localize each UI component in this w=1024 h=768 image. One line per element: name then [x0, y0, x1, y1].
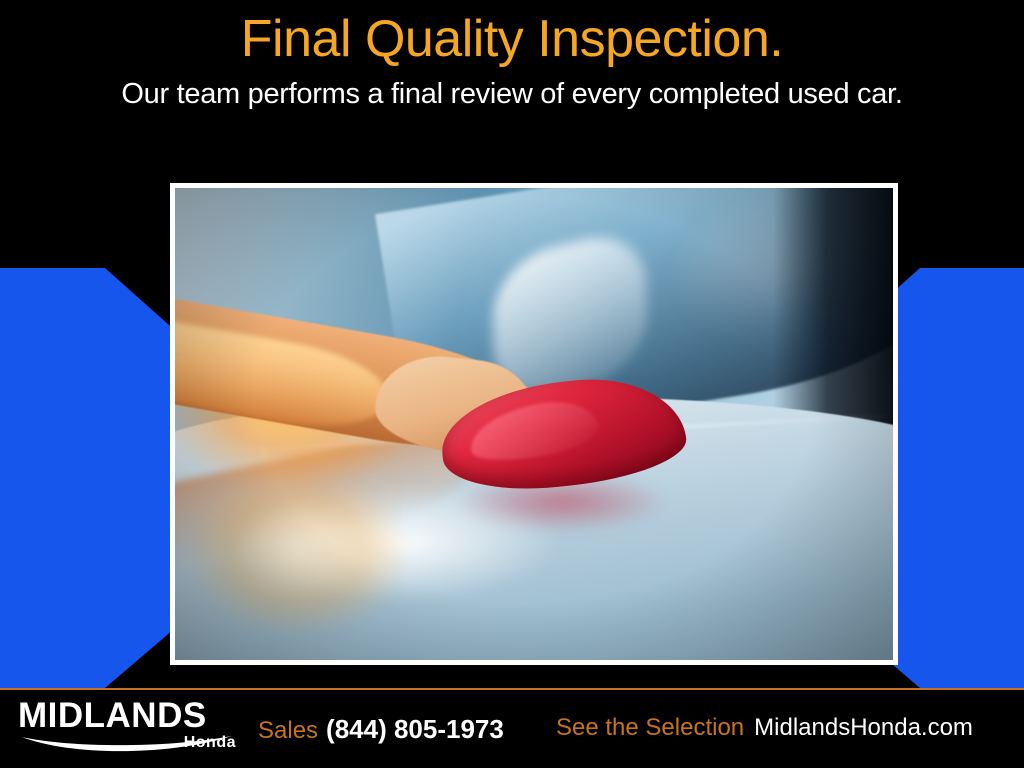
photo-vignette [175, 188, 893, 660]
logo-sub-brand-text: Honda [184, 734, 236, 752]
logo-brand-text: MIDLANDS [18, 698, 248, 734]
sales-label: Sales [258, 717, 318, 745]
advertisement-banner: Final Quality Inspection. Our team perfo… [0, 0, 1024, 768]
page-title: Final Quality Inspection. [0, 8, 1024, 70]
footer-bar: MIDLANDS Honda Sales (844) 805-1973 See … [0, 690, 1024, 768]
page-subtitle: Our team performs a final review of ever… [0, 74, 1024, 114]
sales-phone-group[interactable]: Sales (844) 805-1973 [258, 714, 504, 745]
sales-phone-number[interactable]: (844) 805-1973 [326, 714, 504, 745]
dealer-logo[interactable]: MIDLANDS Honda [18, 698, 248, 760]
photo-frame [170, 183, 898, 665]
hero-photo [175, 188, 893, 660]
see-the-selection-label: See the Selection [556, 714, 744, 742]
website-link[interactable]: MidlandsHonda.com [754, 714, 973, 742]
selection-link-group[interactable]: See the Selection MidlandsHonda.com [556, 714, 973, 742]
headline-block: Final Quality Inspection. Our team perfo… [0, 8, 1024, 114]
